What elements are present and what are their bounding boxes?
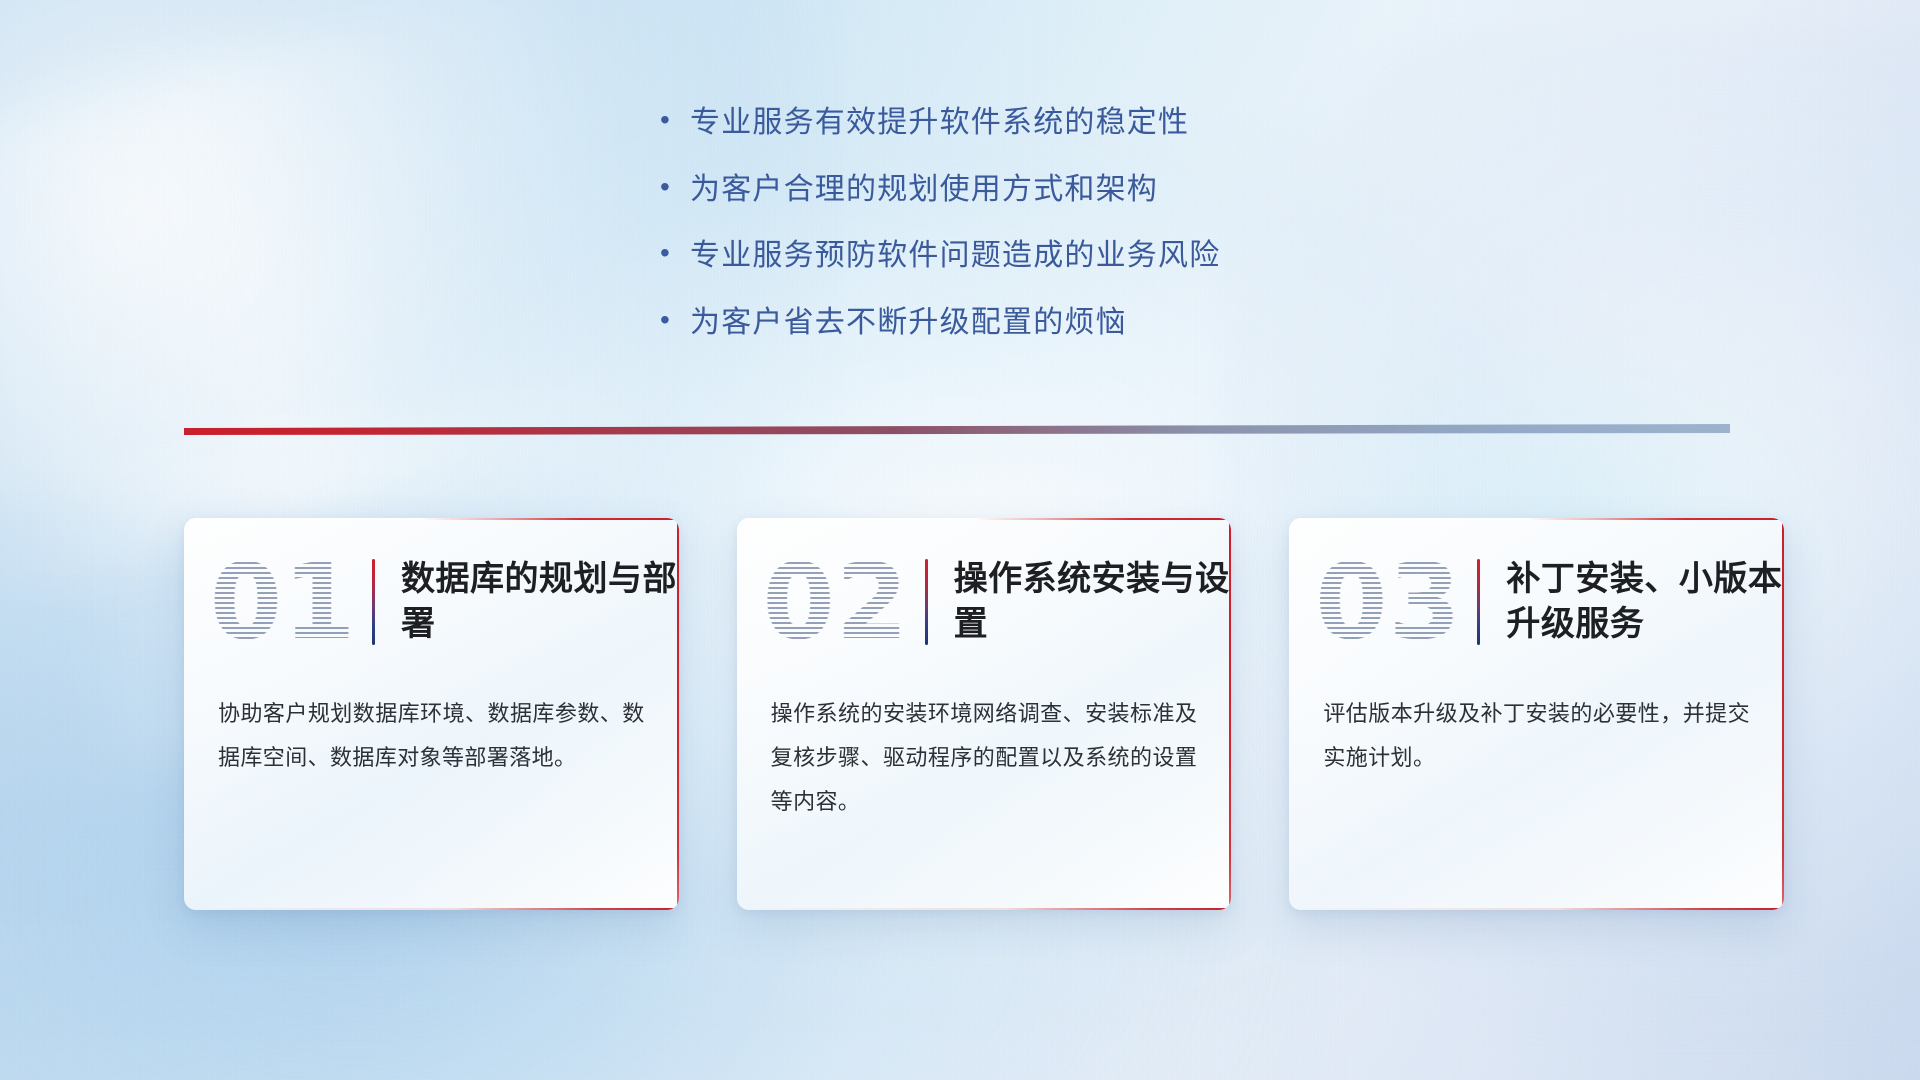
card-divider-bar <box>372 559 375 645</box>
bullet-dot-icon: • <box>660 306 690 334</box>
card-divider-bar <box>1477 559 1480 645</box>
bullet-dot-icon: • <box>660 239 690 267</box>
card-title: 补丁安装、小版本升级服务 <box>1506 557 1784 647</box>
section-divider <box>184 424 1730 446</box>
card-title: 数据库的规划与部署 <box>401 557 679 647</box>
card-header: 03 03 补丁安装、小版本升级服务 <box>1289 518 1784 686</box>
card-bottom-accent-line <box>184 908 679 910</box>
slide-canvas: • 专业服务有效提升软件系统的稳定性 • 为客户合理的规划使用方式和架构 • 专… <box>0 0 1920 1080</box>
bullet-item-1: • 专业服务有效提升软件系统的稳定性 <box>660 104 1420 142</box>
card-body: 协助客户规划数据库环境、数据库参数、数据库空间、数据库对象等部署落地。 <box>184 686 679 780</box>
benefits-bullet-list: • 专业服务有效提升软件系统的稳定性 • 为客户合理的规划使用方式和架构 • 专… <box>660 104 1420 370</box>
card-body-text: 操作系统的安装环境网络调查、安装标准及复核步骤、驱动程序的配置以及系统的设置等内… <box>771 692 1198 824</box>
bullet-dot-icon: • <box>660 106 690 134</box>
service-card-1[interactable]: 01 01 数据库的规划与部署 协助客户规划数据库环境、数据库参数、数据库空间、… <box>184 518 679 910</box>
service-cards-row: 01 01 数据库的规划与部署 协助客户规划数据库环境、数据库参数、数据库空间、… <box>184 518 1784 910</box>
bullet-dot-icon: • <box>660 173 690 201</box>
card-number-value: 01 <box>210 542 356 662</box>
card-body: 操作系统的安装环境网络调查、安装标准及复核步骤、驱动程序的配置以及系统的设置等内… <box>737 686 1232 824</box>
card-number-value: 02 <box>763 542 909 662</box>
card-body-text: 评估版本升级及补丁安装的必要性，并提交实施计划。 <box>1323 692 1750 780</box>
card-number-striped: 03 03 <box>1315 542 1461 662</box>
card-bottom-accent-line <box>1289 908 1784 910</box>
bullet-text-4: 为客户省去不断升级配置的烦恼 <box>690 304 1127 342</box>
bullet-item-4: • 为客户省去不断升级配置的烦恼 <box>660 304 1420 342</box>
card-header: 02 02 操作系统安装与设置 <box>737 518 1232 686</box>
card-header: 01 01 数据库的规划与部署 <box>184 518 679 686</box>
card-number-striped: 01 01 <box>210 542 356 662</box>
service-card-3[interactable]: 03 03 补丁安装、小版本升级服务 评估版本升级及补丁安装的必要性，并提交实施… <box>1289 518 1784 910</box>
card-title: 操作系统安装与设置 <box>954 557 1232 647</box>
bullet-item-2: • 为客户合理的规划使用方式和架构 <box>660 171 1420 209</box>
card-divider-bar <box>925 559 928 645</box>
card-body-text: 协助客户规划数据库环境、数据库参数、数据库空间、数据库对象等部署落地。 <box>218 692 645 780</box>
card-number-value: 03 <box>1315 542 1461 662</box>
bullet-text-2: 为客户合理的规划使用方式和架构 <box>690 171 1158 209</box>
card-bottom-accent-line <box>737 908 1232 910</box>
service-card-2[interactable]: 02 02 操作系统安装与设置 操作系统的安装环境网络调查、安装标准及复核步骤、… <box>737 518 1232 910</box>
bullet-text-1: 专业服务有效提升软件系统的稳定性 <box>690 104 1189 142</box>
card-body: 评估版本升级及补丁安装的必要性，并提交实施计划。 <box>1289 686 1784 780</box>
divider-shape <box>184 424 1730 446</box>
bullet-item-3: • 专业服务预防软件问题造成的业务风险 <box>660 237 1420 275</box>
bullet-text-3: 专业服务预防软件问题造成的业务风险 <box>690 237 1220 275</box>
card-number-striped: 02 02 <box>763 542 909 662</box>
